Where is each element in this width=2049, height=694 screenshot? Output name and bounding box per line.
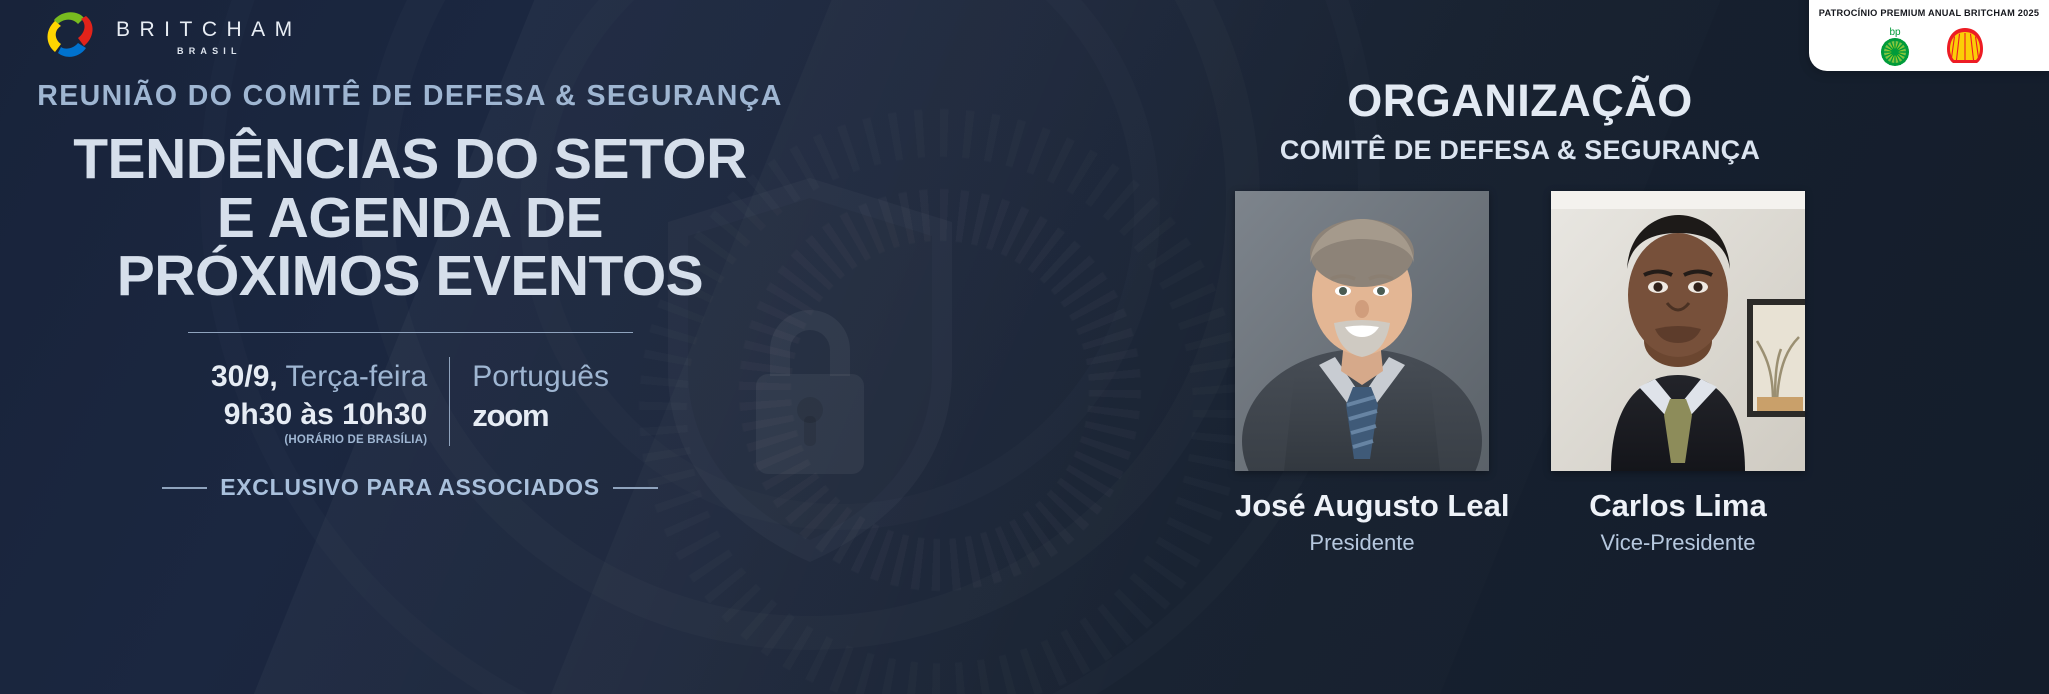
event-language: Português [472,357,609,397]
event-details-column: REUNIÃO DO COMITÊ DE DEFESA & SEGURANÇA … [0,0,820,501]
speaker-card: Carlos Lima Vice-Presidente [1551,191,1805,556]
exclusive-label: EXCLUSIVO PARA ASSOCIADOS [220,474,600,501]
sponsor-logos: bp [1872,24,1986,73]
exclusive-dash-right [613,487,658,489]
event-date-weekday: Terça-feira [286,360,428,393]
event-banner: BRITCHAM BRASIL PATROCÍNIO PREMIUM ANUAL… [0,0,2049,694]
speaker-name: Carlos Lima [1551,488,1805,524]
event-datetime: 30/9, Terça-feira 9h30 às 10h30 (HORÁRIO… [211,357,449,446]
event-timezone: (HORÁRIO DE BRASÍLIA) [211,434,427,446]
headline-divider [188,332,633,333]
headline-line-2: E AGENDA DE [0,189,820,248]
svg-text:bp: bp [1889,27,1901,38]
organization-title: ORGANIZAÇÃO [1160,78,1880,123]
organization-column: ORGANIZAÇÃO COMITÊ DE DEFESA & SEGURANÇA [1160,0,1880,556]
headline-line-3: PRÓXIMOS EVENTOS [0,247,820,306]
speaker-photo-jose-augusto-leal [1235,191,1489,471]
speaker-photo-carlos-lima [1551,191,1805,471]
shell-logo[interactable] [1944,25,1986,72]
exclusive-badge: EXCLUSIVO PARA ASSOCIADOS [0,474,820,501]
speaker-name: José Augusto Leal [1235,488,1489,524]
event-kicker: REUNIÃO DO COMITÊ DE DEFESA & SEGURANÇA [0,80,820,113]
exclusive-dash-left [162,487,207,489]
event-headline: TENDÊNCIAS DO SETOR E AGENDA DE PRÓXIMOS… [0,130,820,306]
event-platform: zoom [472,397,609,434]
organization-subtitle: COMITÊ DE DEFESA & SEGURANÇA [1160,135,1880,166]
event-info-row: 30/9, Terça-feira 9h30 às 10h30 (HORÁRIO… [0,357,820,446]
speakers-list: José Augusto Leal Presidente [1160,191,1880,556]
speaker-role: Vice-Presidente [1551,530,1805,556]
event-time: 9h30 às 10h30 [211,397,427,433]
event-date: 30/9, Terça-feira [211,357,427,397]
event-date-day: 30/9, [211,360,278,393]
headline-line-1: TENDÊNCIAS DO SETOR [0,130,820,189]
speaker-role: Presidente [1235,530,1489,556]
speaker-card: José Augusto Leal Presidente [1235,191,1489,556]
event-language-platform: Português zoom [450,357,609,446]
